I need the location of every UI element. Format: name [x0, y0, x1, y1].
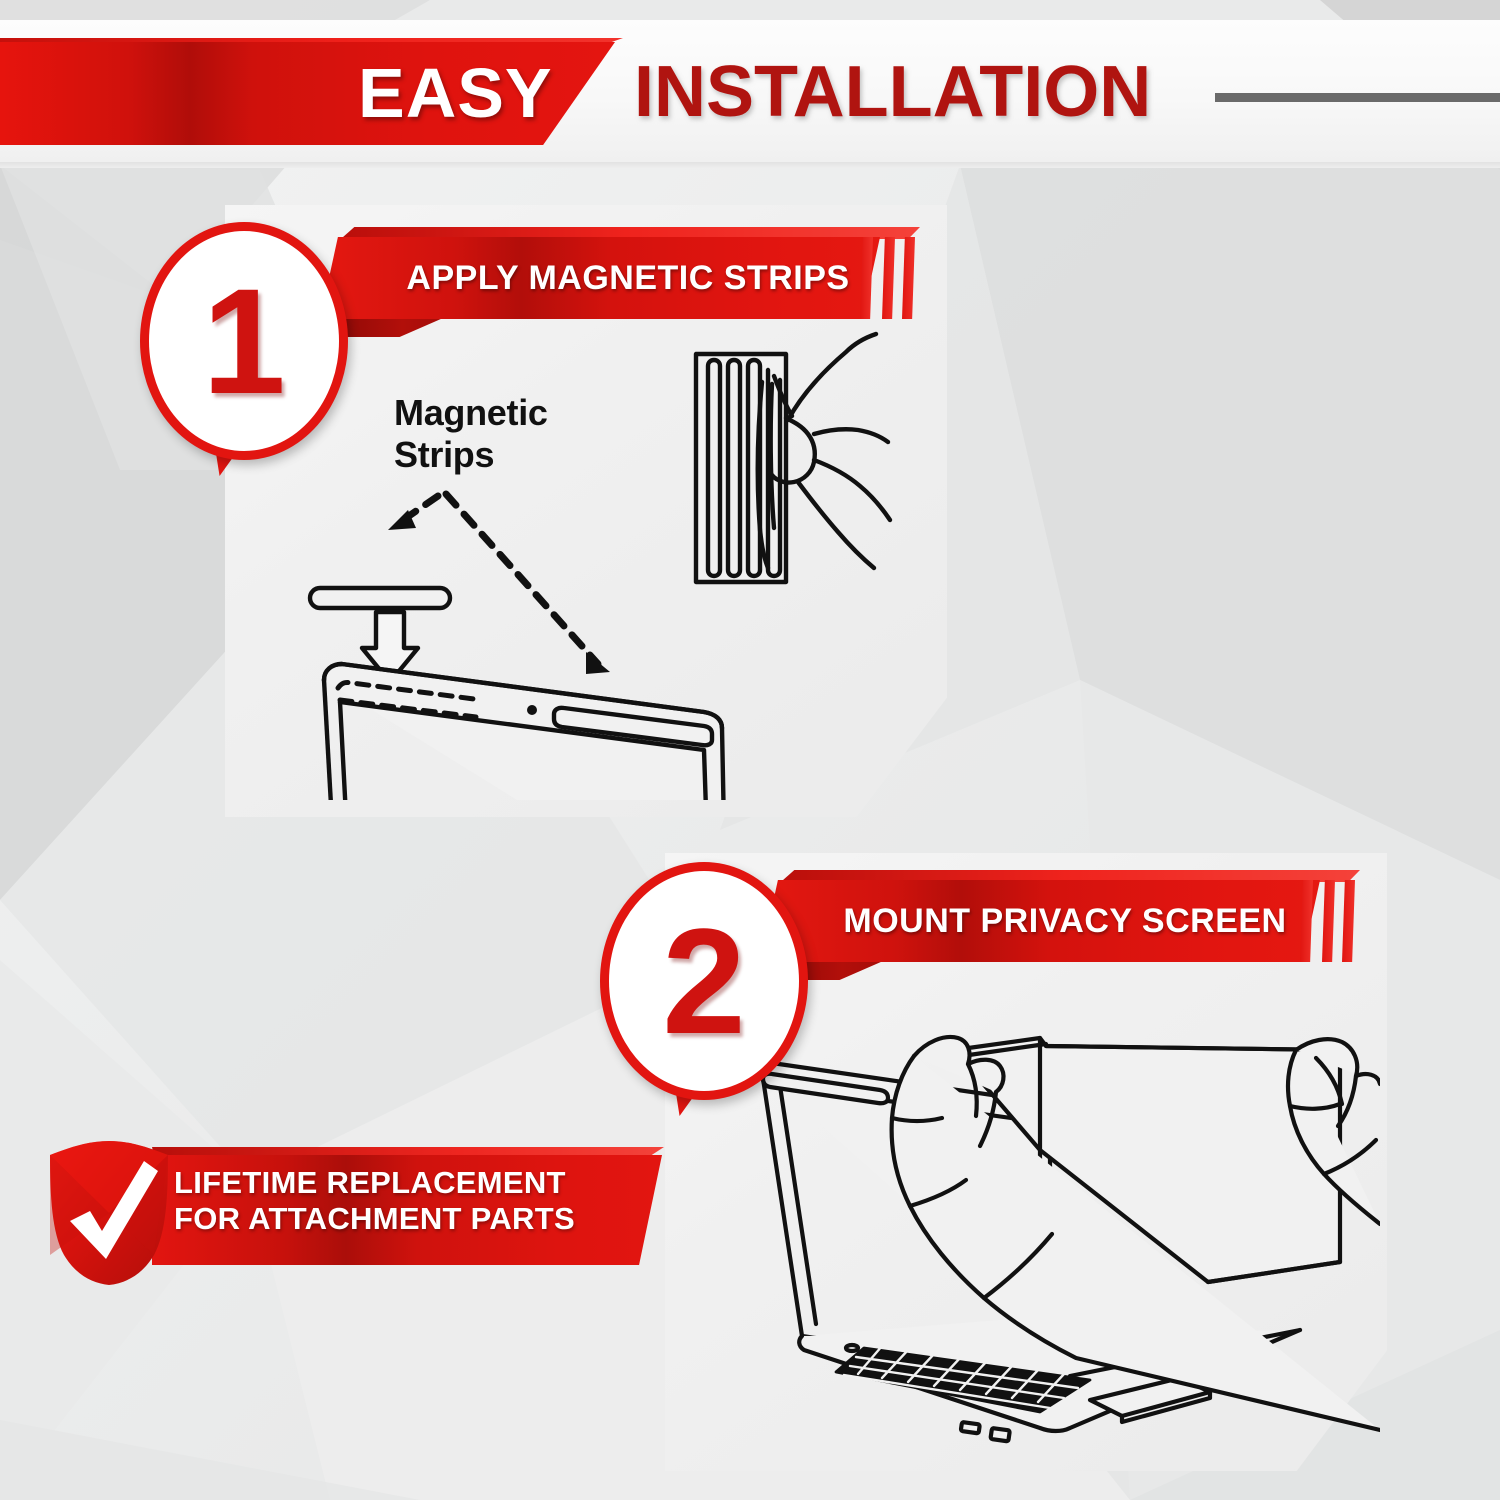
- step-2-illustration: [740, 1030, 1380, 1470]
- step-2-number: 2: [600, 862, 808, 1100]
- magnetic-strips-label-line2: Strips: [394, 434, 548, 476]
- guarantee-text-line2: FOR ATTACHMENT PARTS: [174, 1201, 654, 1237]
- step-1-number: 1: [140, 222, 348, 460]
- step-2-badge: 2: [600, 862, 808, 1100]
- shield-check-icon: [44, 1137, 174, 1287]
- step-1-badge: 1: [140, 222, 348, 460]
- magnetic-strips-label: Magnetic Strips: [394, 392, 548, 476]
- ribbon-2-slash-c: [1342, 880, 1355, 962]
- ribbon-1-slash-b: [882, 237, 895, 319]
- guarantee-text: LIFETIME REPLACEMENT FOR ATTACHMENT PART…: [174, 1165, 654, 1237]
- header-divider-rule: [1215, 93, 1500, 102]
- guarantee-badge: LIFETIME REPLACEMENT FOR ATTACHMENT PART…: [44, 1137, 644, 1287]
- ribbon-1-slash-c: [902, 237, 915, 319]
- step-1-title: APPLY MAGNETIC STRIPS: [378, 237, 878, 319]
- page-title-highlight: EASY: [358, 58, 553, 128]
- magnetic-strips-label-line1: Magnetic: [394, 392, 548, 434]
- step-1-title-ribbon: APPLY MAGNETIC STRIPS: [320, 237, 945, 331]
- guarantee-text-line1: LIFETIME REPLACEMENT: [174, 1165, 654, 1201]
- step-1-illustration: [280, 330, 940, 800]
- page-title-main: INSTALLATION: [634, 56, 1151, 128]
- step-2-title-ribbon: MOUNT PRIVACY SCREEN: [760, 880, 1385, 974]
- ribbon-2-slash-b: [1322, 880, 1335, 962]
- step-2-title: MOUNT PRIVACY SCREEN: [810, 880, 1320, 962]
- poster-canvas: EASY INSTALLATION: [0, 0, 1500, 1500]
